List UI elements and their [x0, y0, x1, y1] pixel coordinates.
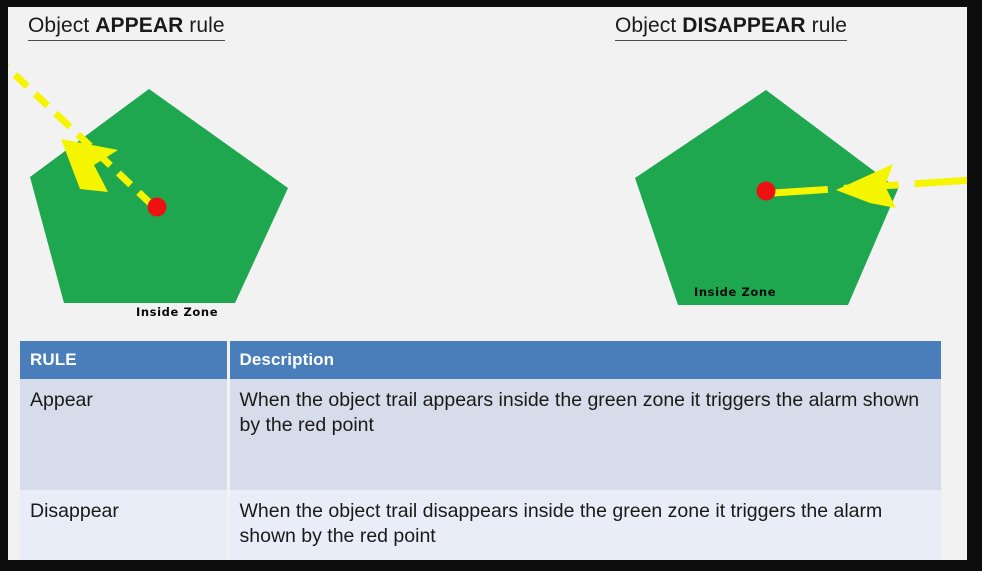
- appear-zone-diagram: Inside Zone: [8, 77, 338, 327]
- alarm-red-point-icon: [757, 182, 776, 201]
- rules-table-body: Appear When the object trail appears ins…: [20, 379, 941, 560]
- cell-description-appear: When the object trail appears inside the…: [228, 379, 941, 490]
- slide-frame: Object APPEAR rule Object DISAPPEAR rule: [0, 0, 982, 571]
- disappear-zone-svg: [608, 77, 967, 327]
- disappear-zone-diagram: Inside Zone: [608, 77, 938, 327]
- disappear-inside-zone-label: Inside Zone: [694, 285, 776, 299]
- disappear-title-prefix: Object: [615, 14, 682, 37]
- alarm-red-point-icon: [148, 198, 167, 217]
- disappear-title-suffix: rule: [806, 14, 847, 37]
- appear-rule-title: Object APPEAR rule: [28, 14, 225, 41]
- disappear-rule-title: Object DISAPPEAR rule: [615, 14, 847, 41]
- appear-inside-zone-label: Inside Zone: [136, 305, 218, 319]
- disappear-title-emphasis: DISAPPEAR: [682, 14, 805, 37]
- table-row: Appear When the object trail appears ins…: [20, 379, 941, 490]
- appear-title-emphasis: APPEAR: [95, 14, 183, 37]
- slide-canvas: Object APPEAR rule Object DISAPPEAR rule: [8, 7, 967, 560]
- column-header-rule: RULE: [20, 341, 228, 379]
- cell-description-disappear: When the object trail disappears inside …: [228, 490, 941, 560]
- appear-title-prefix: Object: [28, 14, 95, 37]
- appear-zone-svg: [8, 77, 338, 327]
- table-header-row: RULE Description: [20, 341, 941, 379]
- rules-table: RULE Description Appear When the object …: [20, 341, 941, 560]
- appear-title-suffix: rule: [183, 14, 224, 37]
- cell-rule-appear: Appear: [20, 379, 228, 490]
- cell-rule-disappear: Disappear: [20, 490, 228, 560]
- table-row: Disappear When the object trail disappea…: [20, 490, 941, 560]
- column-header-description: Description: [228, 341, 941, 379]
- rules-table-head: RULE Description: [20, 341, 941, 379]
